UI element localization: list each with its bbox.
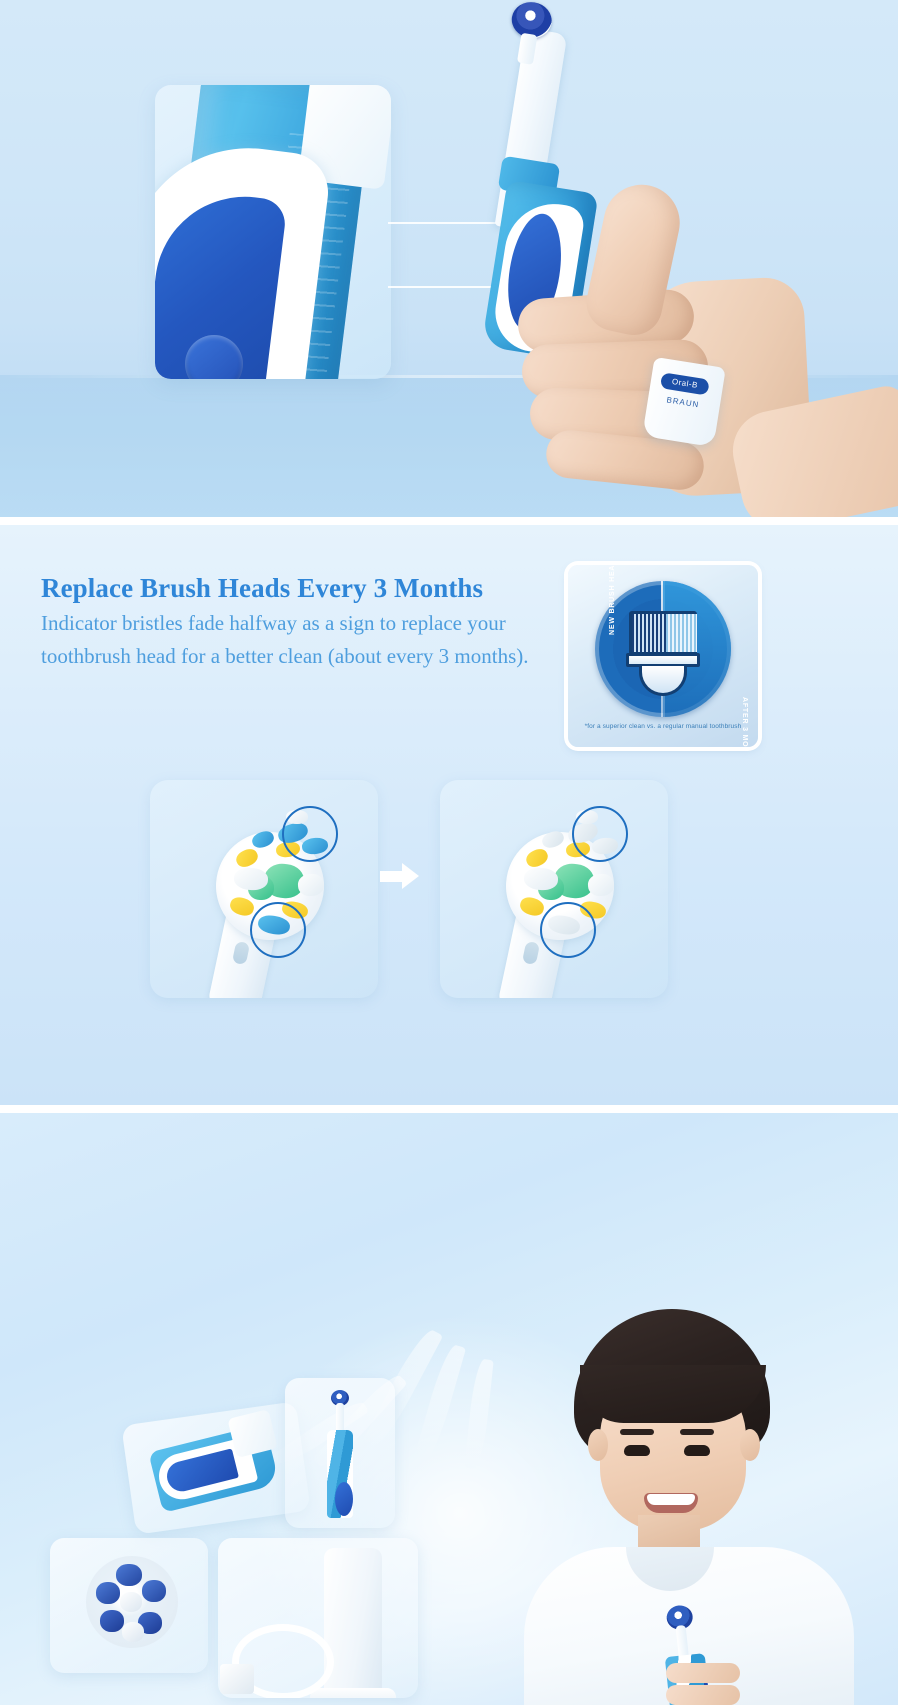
handle-blue-grip <box>335 1482 353 1516</box>
panel-divider <box>0 1105 898 1113</box>
badge-label-right: AFTER 3 MONTHS <box>741 697 748 747</box>
tuft-blue <box>100 1610 124 1632</box>
product-detail-page: Oral-B BRAUN Replace Brush Heads Every 3… <box>0 0 898 1705</box>
eyebrow <box>620 1429 654 1435</box>
panel-divider <box>0 517 898 525</box>
lifestyle-panel <box>0 1113 898 1705</box>
toothbrush-on-charger-icon <box>324 1548 382 1698</box>
ear <box>588 1429 608 1461</box>
badge-footnote: *for a superior clean vs. a regular manu… <box>568 723 758 730</box>
charger-base-icon <box>310 1688 396 1698</box>
brush-head-card-new <box>150 780 378 998</box>
hair-fringe <box>580 1365 766 1423</box>
hand-icon <box>666 1655 762 1705</box>
badge-bristles-new <box>629 611 697 655</box>
handle-closeup-card <box>155 85 391 379</box>
tuft-blue <box>142 1580 166 1602</box>
info-body-text: Indicator bristles fade halfway as a sig… <box>41 607 551 673</box>
tuft-white <box>120 1592 142 1612</box>
brush-neck <box>336 1403 344 1433</box>
highlight-circle-bottom <box>250 902 306 958</box>
brush-head-icon <box>502 0 558 63</box>
new-vs-used-badge-card: NEW BRUSH HEAD AFTER 3 MONTHS *for a sup… <box>568 565 758 747</box>
oralb-logo: Oral-B <box>660 372 710 395</box>
highlight-circle-bottom <box>540 902 596 958</box>
brush-head-card-faded <box>440 780 668 998</box>
right-arrow-icon <box>380 863 420 889</box>
finger <box>666 1663 740 1683</box>
bristle-topview-card <box>50 1538 208 1673</box>
eyebrow <box>680 1429 714 1435</box>
braun-logo: BRAUN <box>661 395 704 410</box>
highlight-circle-top <box>572 806 628 862</box>
brush-head-illustration-faded <box>480 798 658 998</box>
hand-holding-toothbrush: Oral-B BRAUN <box>470 10 870 510</box>
plug-icon <box>220 1664 254 1694</box>
badge-bristles-faded <box>666 614 697 652</box>
brush-neck <box>517 33 537 65</box>
highlight-circle-top <box>282 806 338 862</box>
eye <box>684 1445 710 1456</box>
hand-icon <box>500 250 790 500</box>
eye <box>624 1445 650 1456</box>
full-toothbrush-card <box>285 1378 395 1528</box>
charger-card <box>218 1538 418 1698</box>
brush-bottom-with-logo: Oral-B BRAUN <box>642 357 726 447</box>
brush-body <box>327 1430 353 1518</box>
tuft-blue <box>116 1564 142 1586</box>
bristles-topview-icon <box>86 1556 178 1648</box>
comparison-disc-icon: NEW BRUSH HEAD AFTER 3 MONTHS <box>595 581 731 717</box>
ear <box>740 1429 760 1461</box>
badge-brush-icon <box>629 611 697 691</box>
badge-brush-band <box>626 653 700 667</box>
teeth <box>647 1494 695 1505</box>
hero-panel: Oral-B BRAUN <box>0 0 898 517</box>
info-heading: Replace Brush Heads Every 3 Months <box>41 573 483 604</box>
full-toothbrush-icon <box>323 1390 357 1518</box>
tuft-blue <box>96 1582 120 1604</box>
brush-head-illustration-new <box>190 798 368 998</box>
info-panel: Replace Brush Heads Every 3 Months Indic… <box>0 525 898 1105</box>
finger <box>666 1685 740 1705</box>
smiling-man-holding-toothbrush <box>488 1309 888 1705</box>
tuft-white <box>122 1622 144 1642</box>
smiling-mouth <box>644 1493 698 1513</box>
badge-label-left: NEW BRUSH HEAD <box>609 565 616 635</box>
